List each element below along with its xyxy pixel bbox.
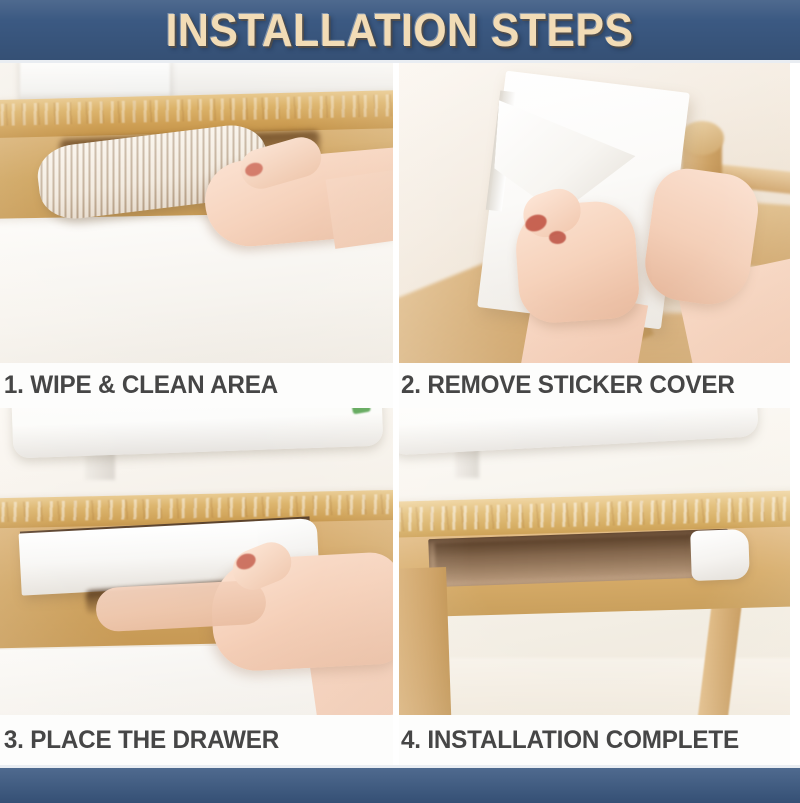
scene-place-the-drawer: [0, 408, 393, 715]
header-banner: INSTALLATION STEPS: [0, 0, 800, 63]
scene-wipe-clean-area: [0, 63, 393, 363]
step-1-caption: 1. WIPE & CLEAN AREA: [0, 371, 278, 400]
step-panel-1: 1. WIPE & CLEAN AREA: [0, 63, 393, 408]
step-2-caption-band: 2. REMOVE STICKER COVER: [399, 363, 790, 408]
step-2-caption: 2. REMOVE STICKER COVER: [399, 371, 735, 400]
fingernail-2: [549, 231, 566, 244]
step-panel-3: 3. PLACE THE DRAWER: [0, 408, 393, 765]
step-4-photo: [399, 408, 790, 715]
step-3-photo: [0, 408, 393, 715]
step-3-caption: 3. PLACE THE DRAWER: [0, 726, 279, 755]
footer-banner: [0, 765, 800, 803]
right-margin-strip: [791, 63, 800, 765]
chair-knob: [680, 121, 724, 155]
step-panel-4: 4. INSTALLATION COMPLETE: [399, 408, 790, 765]
step-4-caption: 4. INSTALLATION COMPLETE: [399, 726, 739, 755]
steps-grid: 1. WIPE & CLEAN AREA: [0, 63, 800, 765]
drawer-end-cap: [690, 529, 750, 581]
page-title: INSTALLATION STEPS: [166, 3, 634, 57]
step-panel-2: 2. REMOVE STICKER COVER: [399, 63, 790, 408]
step-1-photo: [0, 63, 393, 363]
fingers: [95, 580, 267, 633]
wrist: [326, 167, 393, 249]
step-4-caption-band: 4. INSTALLATION COMPLETE: [399, 715, 790, 765]
scene-installation-complete: [399, 408, 790, 715]
step-1-caption-band: 1. WIPE & CLEAN AREA: [0, 363, 393, 408]
step-3-caption-band: 3. PLACE THE DRAWER: [0, 715, 393, 765]
scene-remove-sticker-cover: [399, 63, 790, 363]
infographic-page: INSTALLATION STEPS: [0, 0, 800, 803]
desk-leg-front: [399, 567, 452, 715]
step-2-photo: [399, 63, 790, 363]
